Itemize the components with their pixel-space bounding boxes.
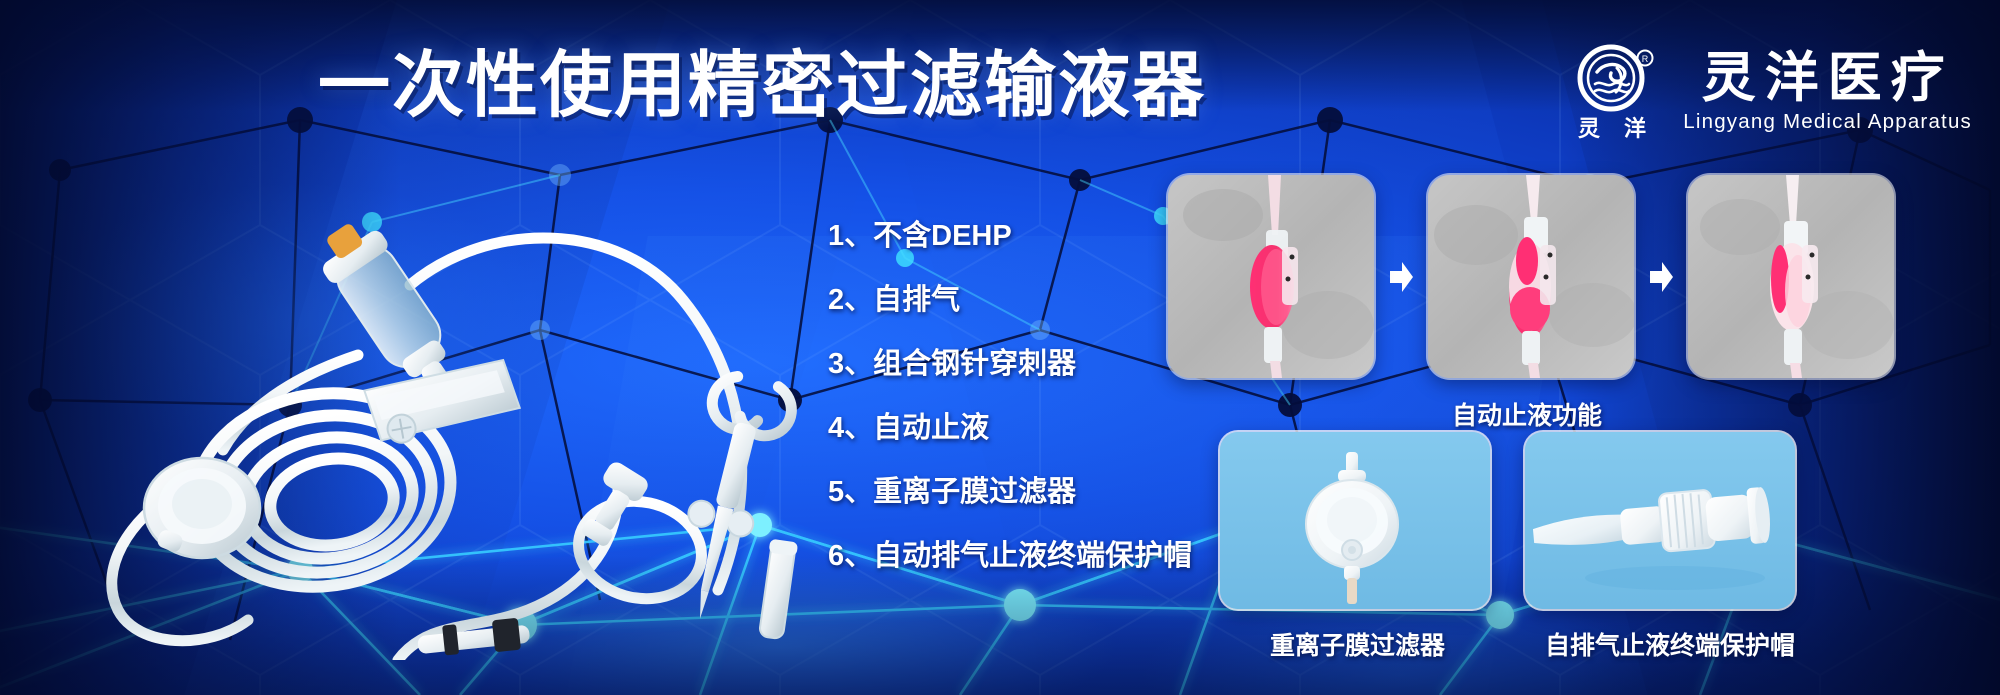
- sequence-photo-3: [1688, 175, 1894, 378]
- svg-text:R: R: [1642, 54, 1649, 64]
- product-card-caption: 重离子膜过滤器: [1270, 626, 1445, 662]
- product-card-filter: [1220, 432, 1490, 609]
- svg-text:灵: 灵: [1578, 116, 1600, 141]
- feature-list: 1、不含DEHP 2、自排气 3、组合钢针穿刺器 4、自动止液 5、重离子膜过滤…: [828, 222, 1192, 571]
- sequence-photo-2: [1428, 175, 1634, 378]
- brand-name-en: Lingyang Medical Apparatus: [1683, 110, 1972, 134]
- feature-item: 3、组合钢针穿刺器: [828, 350, 1192, 379]
- product-card-cap: [1525, 432, 1795, 609]
- logo-emblem-icon: R 灵 洋: [1569, 42, 1665, 142]
- svg-text:洋: 洋: [1624, 116, 1646, 141]
- sequence-photo-1: [1168, 175, 1374, 378]
- brand-name-cn: 灵洋医疗: [1702, 50, 1954, 107]
- brand-logo: R 灵 洋 灵洋医疗 Lingyang Medical Apparatus: [1569, 42, 1972, 142]
- auto-stop-sequence: [1168, 175, 1894, 378]
- product-card-row: [1220, 432, 1795, 609]
- product-card-caption: 自排气止液终端保护帽: [1545, 626, 1795, 662]
- product-photo: [58, 190, 818, 660]
- sequence-arrow-icon: [1634, 260, 1688, 294]
- feature-item: 5、重离子膜过滤器: [828, 478, 1192, 507]
- feature-item: 4、自动止液: [828, 414, 1192, 443]
- feature-item: 2、自排气: [828, 286, 1192, 315]
- sequence-caption: 自动止液功能: [1452, 396, 1602, 432]
- feature-item: 6、自动排气止液终端保护帽: [828, 542, 1192, 571]
- sequence-arrow-icon: [1374, 260, 1428, 294]
- feature-item: 1、不含DEHP: [828, 222, 1192, 251]
- product-banner: 一次性使用精密过滤输液器 R 灵 洋 灵洋医疗 Lingyang Medical…: [0, 0, 2000, 695]
- brand-name-block: 灵洋医疗 Lingyang Medical Apparatus: [1683, 50, 1972, 135]
- page-title: 一次性使用精密过滤输液器: [318, 50, 1206, 122]
